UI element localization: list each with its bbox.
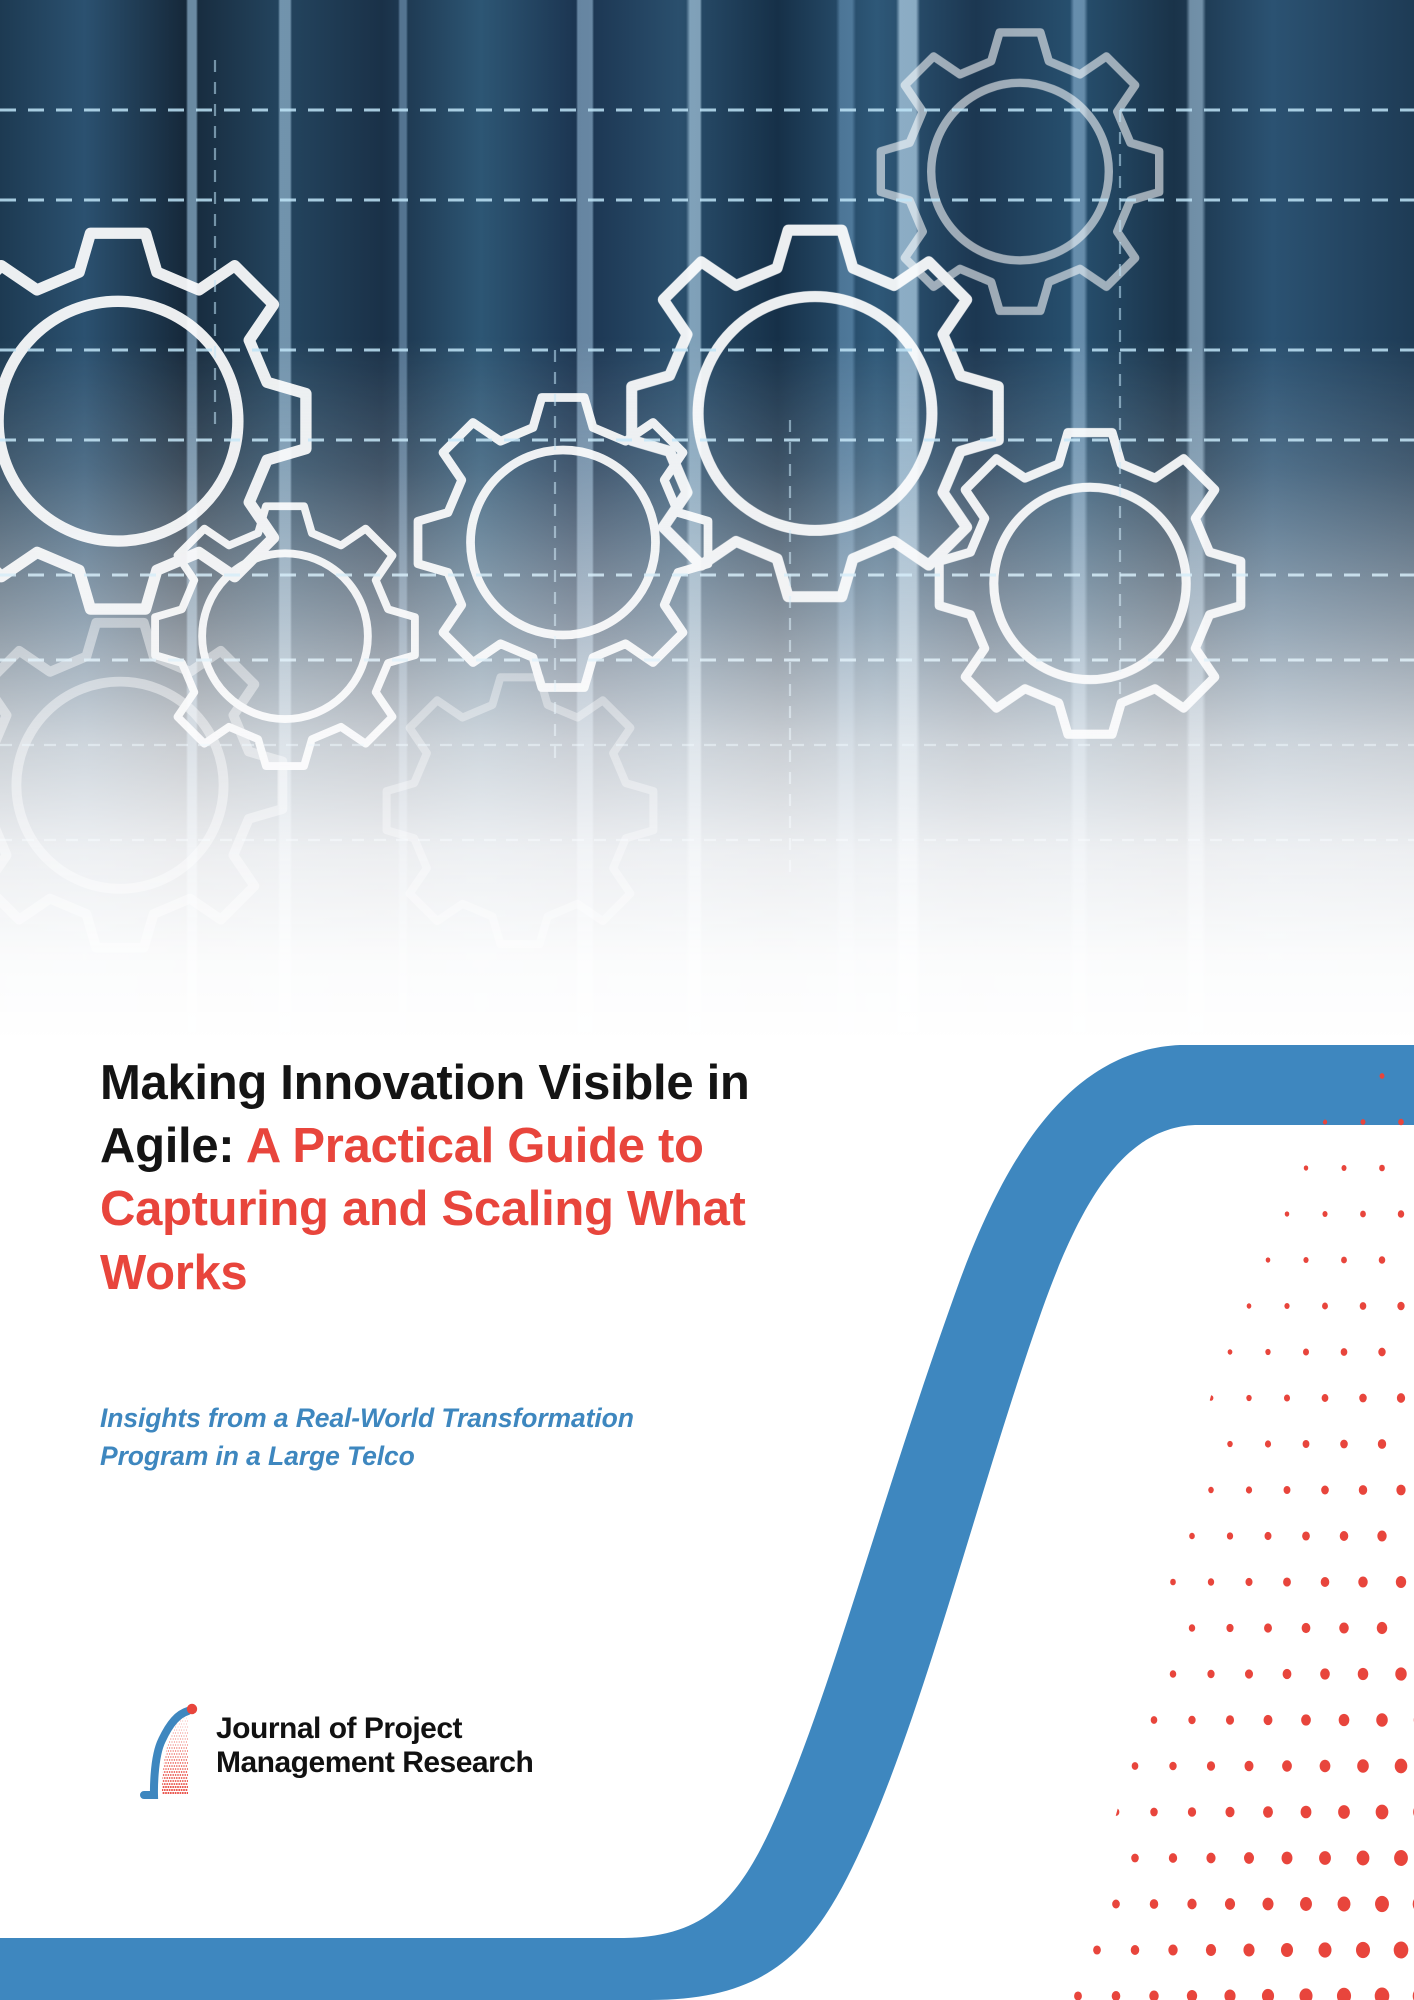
title-block: Making Innovation Visible in Agile: A Pr… (100, 1052, 780, 1305)
hero-background-image (0, 0, 1414, 1120)
title-plain-part: Making Innovation Visible in (100, 1056, 750, 1110)
title-colon-part: Agile: (100, 1119, 246, 1173)
cover-page: Making Innovation Visible in Agile: A Pr… (0, 0, 1414, 2000)
page-title: Making Innovation Visible in Agile: A Pr… (100, 1052, 780, 1305)
journal-logo-text: Journal of Project Management Research (216, 1712, 533, 1780)
journal-logo-line1: Journal of Project (216, 1712, 533, 1746)
logo-red-dot (187, 1704, 197, 1714)
photo-white-fade (0, 0, 1414, 1120)
journal-logo: Journal of Project Management Research (140, 1692, 533, 1800)
s-curve-halftone-icon (140, 1692, 202, 1800)
page-subtitle: Insights from a Real-World Transformatio… (100, 1400, 740, 1475)
red-halftone-dots (994, 1060, 1414, 2000)
journal-logo-line2: Management Research (216, 1746, 533, 1780)
